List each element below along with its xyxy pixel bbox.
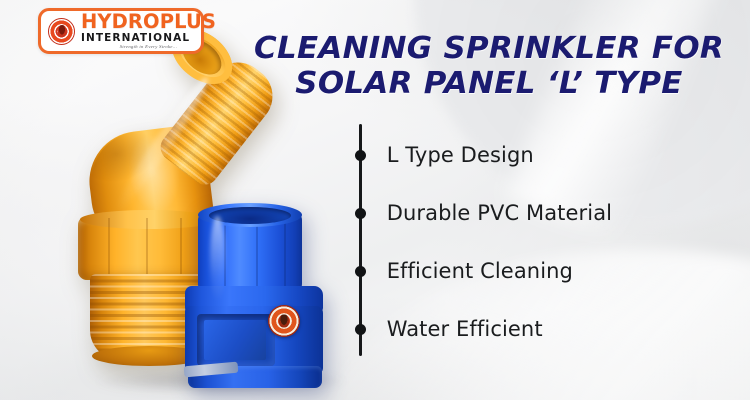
page-title-line-2: SOLAR PANEL ‘L’ TYPE: [239, 67, 740, 102]
hex-facet-edge: [146, 218, 148, 278]
bullet-dot-icon: [355, 324, 366, 335]
bullet-dot-icon: [355, 208, 366, 219]
product-banner: HYDROPLUS INTERNATIONAL Strength in Ever…: [0, 0, 750, 400]
list-item: L Type Design: [352, 142, 534, 168]
hydroplus-seal-icon: [268, 305, 300, 337]
brand-logo: HYDROPLUS INTERNATIONAL Strength in Ever…: [38, 8, 204, 54]
brand-wordmark: HYDROPLUS INTERNATIONAL Strength in Ever…: [81, 12, 216, 50]
bullet-dot-icon: [355, 266, 366, 277]
brand-subtitle: INTERNATIONAL: [81, 33, 216, 44]
hydroplus-seal-icon: [48, 18, 75, 45]
socket-facet-edge: [256, 218, 258, 292]
list-item: Durable PVC Material: [352, 200, 612, 226]
list-item-label: Water Efficient: [387, 317, 543, 341]
blue-sprinkler-clamp-body: [180, 198, 328, 390]
list-item-label: Efficient Cleaning: [387, 259, 573, 283]
page-title: CLEANING SPRINKLER FOR SOLAR PANEL ‘L’ T…: [246, 32, 732, 102]
list-item-label: Durable PVC Material: [387, 201, 612, 225]
list-item: Water Efficient: [352, 316, 543, 342]
list-item-label: L Type Design: [387, 143, 534, 167]
hex-facet-edge: [108, 218, 110, 278]
brand-name: HYDROPLUS: [81, 12, 216, 32]
feature-list: L Type Design Durable PVC Material Effic…: [352, 124, 682, 356]
clamp-cutout-inner-face: [204, 320, 266, 360]
brand-tagline: Strength in Every Stroke...: [81, 45, 216, 50]
page-title-line-1: CLEANING SPRINKLER FOR: [239, 32, 740, 67]
socket-facet-edge: [284, 218, 286, 292]
clamp-specular-highlight: [210, 216, 225, 302]
bullet-dot-icon: [355, 150, 366, 161]
list-item: Efficient Cleaning: [352, 258, 573, 284]
